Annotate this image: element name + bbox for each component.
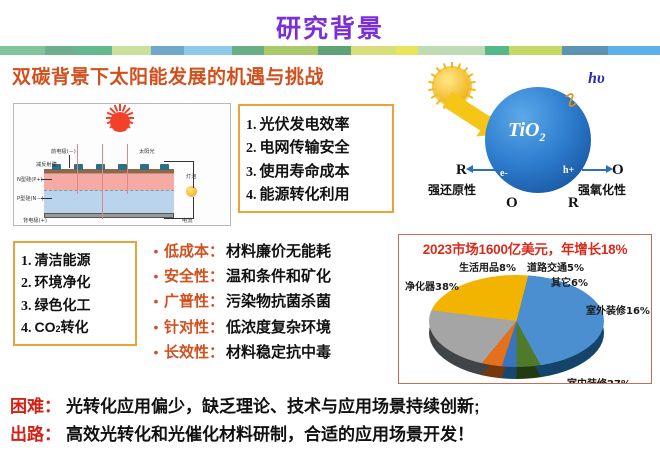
tio2-label: TiO2 xyxy=(508,119,545,145)
list-index: 1. xyxy=(246,118,257,134)
front-contact xyxy=(118,164,127,170)
band-segment-10 xyxy=(396,46,418,55)
market-pie-chart-panel: 2023市场1600亿美元，年增长18% 净化器38% 室内装修27% 室外装修… xyxy=(398,234,652,384)
band-segment-4 xyxy=(151,46,184,55)
bullet-icon: • xyxy=(148,293,164,309)
reduction-arrow xyxy=(472,169,498,171)
circuit-wire xyxy=(164,197,194,219)
reduction-label: 强还原性 xyxy=(428,181,476,198)
sun-ray xyxy=(119,104,121,111)
front-contact xyxy=(96,164,105,170)
pie-label-other: 其它6% xyxy=(551,274,588,289)
list-item: 3. 使用寿命成本 xyxy=(246,160,386,181)
decorative-color-band xyxy=(0,46,660,55)
photocatalysis-diagram: TiO2 ∿ hυ e- h+ R O O R 强还原性 强氧化性 xyxy=(420,62,658,222)
list-label: 绿色化工 xyxy=(35,295,91,315)
sun-ray xyxy=(436,99,441,105)
band-segment-0 xyxy=(0,46,45,55)
property-key: 针对性： xyxy=(164,316,224,337)
label-sunlight: 太阳光 xyxy=(139,148,155,155)
list-item: 2. 环境净化 xyxy=(21,272,129,292)
sun-ray xyxy=(436,67,441,73)
list-label: 电网传输安全 xyxy=(260,136,350,157)
sun-ray xyxy=(467,73,473,78)
sun-ray xyxy=(106,117,113,119)
label-p-silicon: P型硅(N－) xyxy=(17,195,44,202)
list-label-tail: 转化 xyxy=(61,317,89,337)
bullet-icon: • xyxy=(148,243,164,259)
list-label: 清洁能源 xyxy=(35,250,91,270)
pie-label-household: 生活用品8% xyxy=(459,259,516,274)
list-index: 4. xyxy=(246,188,257,204)
property-value: 材料廉价无能耗 xyxy=(226,240,331,261)
property-value: 低浓度复杂环境 xyxy=(226,316,331,337)
list-item: 2. 电网传输安全 xyxy=(246,136,386,157)
band-segment-12 xyxy=(485,46,509,55)
pointer-line xyxy=(69,155,70,168)
page-title: 研究背景 xyxy=(0,0,660,45)
band-segment-1 xyxy=(45,46,77,55)
property-key: 长效性： xyxy=(164,341,224,362)
label-front-electrode: 前电极(－) xyxy=(51,148,76,155)
sun-ray xyxy=(457,63,461,69)
species-o-left: O xyxy=(506,195,518,212)
property-item: • 安全性： 温和条件和矿化 xyxy=(148,265,393,286)
pointer-line xyxy=(41,179,52,180)
chart-title: 2023市场1600亿美元，年增长18% xyxy=(399,235,651,258)
photon-label: hυ xyxy=(588,70,605,88)
list-index: 2. xyxy=(246,141,257,157)
sun-ray xyxy=(470,81,476,84)
n-silicon-layer xyxy=(44,173,174,190)
list-item: 4. CO2转化 xyxy=(21,317,129,337)
label-back-electrode: 背电极(+) xyxy=(23,217,47,224)
list-index: 1. xyxy=(21,254,32,270)
sun-ray xyxy=(428,81,434,84)
back-electrode-layer xyxy=(44,213,174,218)
band-segment-14 xyxy=(562,46,608,55)
properties-list: • 低成本： 材料廉价无能耗 • 安全性： 温和条件和矿化 • 广普性： 污染物… xyxy=(148,240,393,366)
list-index: 4. xyxy=(21,321,32,337)
pointer-line xyxy=(41,198,52,199)
band-segment-3 xyxy=(112,46,151,55)
oxidation-arrow xyxy=(582,169,608,171)
pie-label-outdoor: 室外装修16% xyxy=(586,302,650,317)
band-segment-5 xyxy=(184,46,232,55)
bullet-icon: • xyxy=(148,344,164,360)
band-segment-8 xyxy=(318,46,351,55)
conclusion-difficulty: 困难： 光转化应用偏少，缺乏理论、技术与应用场景持续创新; xyxy=(10,392,655,421)
front-contact xyxy=(140,164,149,170)
list-index: 3. xyxy=(21,299,32,315)
list-label: 使用寿命成本 xyxy=(260,160,350,181)
sun-ray xyxy=(463,67,468,73)
hole-label: h+ xyxy=(563,165,574,176)
light-ray xyxy=(77,144,78,194)
list-label: 能源转化利用 xyxy=(260,183,350,204)
sun-ray xyxy=(467,94,473,99)
list-item: 4. 能源转化利用 xyxy=(246,183,386,204)
property-key: 广普性： xyxy=(164,290,224,311)
list-item: 1. 清洁能源 xyxy=(21,250,129,270)
band-segment-9 xyxy=(351,46,396,55)
species-o-right: O xyxy=(612,162,624,179)
pie-label-indoor: 室内装修27% xyxy=(567,375,631,384)
pie-label-purifier: 净化器38% xyxy=(405,278,459,293)
light-ray xyxy=(127,144,128,194)
applications-list-box: 1. 清洁能源 2. 环境净化 3. 绿色化工 4. CO2转化 xyxy=(13,241,137,346)
conclusion-value: 光转化应用偏少，缺乏理论、技术与应用场景持续创新; xyxy=(66,392,480,417)
bullet-icon: • xyxy=(148,319,164,335)
property-value: 温和条件和矿化 xyxy=(226,265,331,286)
sun-ray xyxy=(127,117,134,119)
property-item: • 广普性： 污染物抗菌杀菌 xyxy=(148,290,393,311)
oxidation-label: 强氧化性 xyxy=(578,181,626,198)
light-ray xyxy=(102,144,103,219)
label-anti-reflective: 减反射膜 xyxy=(36,161,57,168)
property-item: • 针对性： 低浓度复杂环境 xyxy=(148,316,393,337)
list-index: 2. xyxy=(21,276,32,292)
pie-label-transport: 道路交通5% xyxy=(527,259,584,274)
property-key: 低成本： xyxy=(164,240,224,261)
sun-ray xyxy=(119,125,121,132)
sun-ray xyxy=(443,63,447,69)
electron-label: e- xyxy=(500,168,508,179)
band-segment-13 xyxy=(509,46,561,55)
sun-ray xyxy=(428,88,434,91)
property-value: 材料稳定抗中毒 xyxy=(226,341,331,362)
sun-ray xyxy=(431,94,437,99)
property-item: • 长效性： 材料稳定抗中毒 xyxy=(148,341,393,362)
conclusion-value: 高效光转化和光催化材料研制，合适的应用场景开发！ xyxy=(66,420,474,445)
solar-cell-diagram: 前电极(－) 减反射膜 N型硅(P+) P型硅(N－) 背电极(+) 太阳光 灯… xyxy=(13,103,231,226)
sun-ray xyxy=(470,88,476,91)
bullet-icon: • xyxy=(148,268,164,284)
band-segment-6 xyxy=(232,46,264,55)
conclusion-key: 困难： xyxy=(10,392,61,417)
property-value: 污染物抗菌杀菌 xyxy=(226,290,331,311)
band-segment-2 xyxy=(76,46,111,55)
oxidation-arrowhead xyxy=(606,165,613,173)
sun-ray xyxy=(431,73,437,78)
band-segment-11 xyxy=(418,46,485,55)
band-segment-7 xyxy=(264,46,318,55)
property-item: • 低成本： 材料廉价无能耗 xyxy=(148,240,393,261)
section-subtitle: 双碳背景下太阳能发展的机遇与挑战 xyxy=(12,62,324,89)
list-label: 环境净化 xyxy=(35,272,91,292)
sun-ray xyxy=(451,62,453,68)
conclusion-key: 出路： xyxy=(10,420,61,445)
band-segment-15 xyxy=(608,46,660,55)
list-index: 3. xyxy=(246,165,257,181)
list-item: 1. 光伏发电效率 xyxy=(246,113,386,134)
list-item: 3. 绿色化工 xyxy=(21,295,129,315)
conclusion-solution: 出路： 高效光转化和光催化材料研制，合适的应用场景开发！ xyxy=(10,420,655,449)
reduction-arrowhead xyxy=(466,165,473,173)
front-contact xyxy=(74,164,83,170)
challenges-list-box: 1. 光伏发电效率 2. 电网传输安全 3. 使用寿命成本 4. 能源转化利用 xyxy=(238,104,394,213)
property-key: 安全性： xyxy=(164,265,224,286)
circuit-wire xyxy=(164,161,194,188)
list-label: 光伏发电效率 xyxy=(260,113,350,134)
p-silicon-layer xyxy=(44,190,174,213)
sun-ray xyxy=(126,112,133,117)
label-n-silicon: N型硅(P+) xyxy=(17,176,43,183)
list-label: CO xyxy=(35,319,56,335)
